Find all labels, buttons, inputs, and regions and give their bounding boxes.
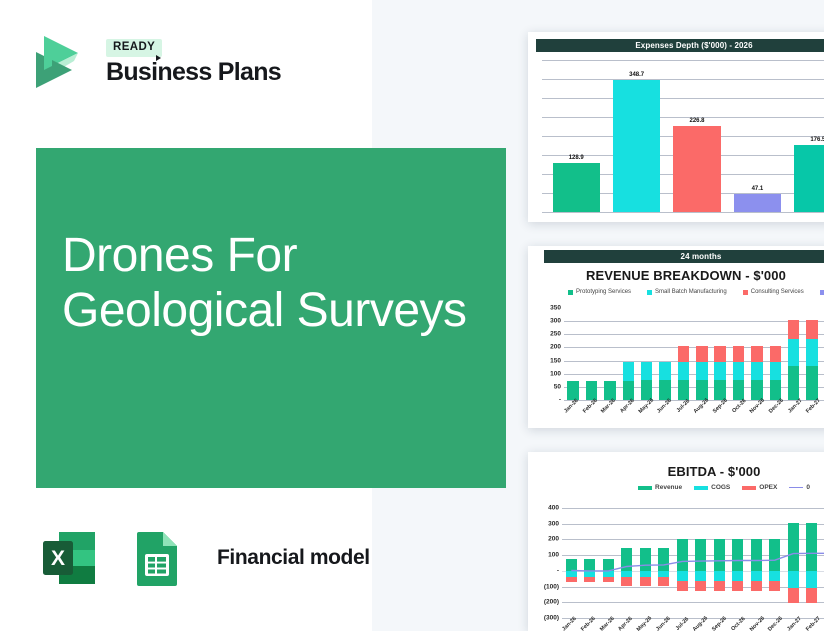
- bar-segment: [641, 362, 652, 380]
- bar-segment: [806, 339, 817, 366]
- bar-segment: [695, 539, 706, 571]
- legend-item: OPEX: [742, 484, 777, 491]
- bar-segment: [714, 539, 725, 571]
- bar-segment: [806, 588, 817, 602]
- bar-segment: [751, 571, 762, 581]
- bar-segment: [770, 362, 781, 380]
- bar: [553, 163, 600, 212]
- legend-swatch: [647, 290, 652, 295]
- bar-value-label: 226.8: [690, 118, 705, 124]
- bar-segment: [788, 523, 799, 571]
- bar-slot: [785, 308, 803, 400]
- page-title: Drones For Geological Surveys: [62, 228, 482, 338]
- chart-card-revenue[interactable]: 24 months REVENUE BREAKDOWN - $'000 Prot…: [528, 246, 824, 428]
- revenue-bar-group: [564, 308, 824, 400]
- bar-segment: [603, 577, 614, 582]
- expenses-bar-group: 128.9348.7226.847.1176.5: [542, 60, 824, 212]
- bar-slot: [766, 308, 784, 400]
- bar-slot: [693, 308, 711, 400]
- bar-slot: [582, 308, 600, 400]
- bar-segment: [640, 548, 651, 571]
- y-tick-label: 400: [548, 505, 559, 512]
- play-triangles-logo-icon: [28, 30, 92, 94]
- bar-segment: [696, 346, 707, 361]
- bar-segment: [714, 346, 725, 361]
- ebitda-plot-area: 400300200100-(100)(200)(300): [532, 508, 824, 618]
- bar-slot: [710, 508, 729, 618]
- brand-accent-triangle-icon: [156, 55, 161, 61]
- bar-segment: [584, 577, 595, 582]
- poster-page: READY Business Plans Drones For Geologic…: [0, 0, 824, 631]
- bar-slot: [784, 508, 803, 618]
- ebitda-legend: RevenueCOGSOPEX0: [590, 484, 824, 491]
- bar-slot: [729, 308, 747, 400]
- brand-logo-block[interactable]: READY Business Plans: [28, 30, 281, 94]
- stacked-bar: [696, 346, 707, 400]
- bar-slot: [711, 308, 729, 400]
- bar-segment: [658, 548, 669, 571]
- bar-slot: [581, 508, 600, 618]
- bar-segment: [677, 539, 688, 571]
- svg-text:X: X: [51, 547, 65, 570]
- bar-slot: [656, 308, 674, 400]
- bar-segment: [769, 539, 780, 571]
- stacked-bar: [751, 346, 762, 400]
- y-tick-label: (100): [544, 583, 559, 590]
- y-tick-label: 300: [550, 318, 561, 325]
- stacked-bar: [678, 346, 689, 400]
- y-tick-label: 200: [550, 344, 561, 351]
- y-tick-label: 50: [554, 383, 561, 390]
- file-format-row: X Financial model: [33, 522, 370, 594]
- bar-slot: [655, 508, 674, 618]
- bar-segment: [788, 571, 799, 589]
- microsoft-excel-icon: X: [33, 522, 105, 594]
- legend-label: OPEX: [759, 484, 777, 491]
- bar-slot: [619, 308, 637, 400]
- bar-segment: [806, 523, 817, 571]
- bar-segment: [751, 539, 762, 571]
- ebitda-x-axis-labels: Jan-26Feb-26Mar-26Apr-26May-26Jun-26Jul-…: [558, 622, 824, 628]
- brand-name-text: Business Plans: [106, 58, 281, 86]
- legend-swatch: [789, 487, 803, 488]
- legend-item: -: [820, 289, 824, 295]
- bar-slot: [674, 308, 692, 400]
- ebitda-chart-title: EBITDA - $'000: [570, 464, 824, 479]
- bar-segment: [732, 539, 743, 571]
- legend-item: 0: [789, 484, 810, 491]
- bar-segment: [566, 559, 577, 571]
- y-tick-label: 100: [548, 552, 559, 559]
- y-tick-label: -: [557, 567, 559, 574]
- bar-segment: [714, 362, 725, 380]
- bar-slot: [638, 308, 656, 400]
- bar-slot: [636, 508, 655, 618]
- y-axis-labels: 400300200100-(100)(200)(300): [532, 508, 562, 618]
- legend-label: COGS: [711, 484, 730, 491]
- bar-slot: [564, 308, 582, 400]
- bar-value-label: 348.7: [629, 72, 644, 78]
- bar: [794, 145, 824, 212]
- bar-segment: [678, 362, 689, 380]
- ebitda-bar-group: [562, 508, 824, 618]
- bar-segment: [769, 571, 780, 581]
- expenses-plot-area: 128.9348.7226.847.1176.5: [542, 60, 824, 212]
- y-tick-label: 250: [550, 331, 561, 338]
- bar: [734, 194, 781, 212]
- revenue-legend: Prototyping ServicesSmall Batch Manufact…: [568, 289, 824, 295]
- legend-item: Revenue: [638, 484, 682, 491]
- revenue-plot-area: 35030025020015010050-: [534, 308, 824, 400]
- legend-label: Prototyping Services: [576, 289, 631, 295]
- bar-segment: [733, 346, 744, 361]
- bar-segment: [770, 380, 781, 400]
- bar-segment: [677, 581, 688, 591]
- bar: [673, 126, 720, 212]
- bar-slot: [729, 508, 748, 618]
- bar-slot: [601, 308, 619, 400]
- legend-swatch: [638, 486, 652, 490]
- bar-segment: [566, 577, 577, 582]
- bar-segment: [769, 581, 780, 591]
- legend-swatch: [742, 486, 756, 490]
- bar-value-label: 128.9: [569, 155, 584, 161]
- bar-slot: 176.5: [788, 60, 824, 212]
- bar-segment: [623, 362, 634, 381]
- bar-segment: [584, 559, 595, 571]
- bar-segment: [621, 548, 632, 571]
- legend-label: Revenue: [655, 484, 682, 491]
- stacked-bar: [623, 362, 634, 400]
- bar-segment: [788, 588, 799, 602]
- bar-segment: [621, 577, 632, 586]
- bar-segment: [714, 571, 725, 581]
- bar-slot: [766, 508, 785, 618]
- y-axis-labels: 35030025020015010050-: [534, 308, 564, 400]
- stacked-bar: [770, 346, 781, 400]
- bar-segment: [659, 362, 670, 380]
- chart-card-ebitda[interactable]: EBITDA - $'000 RevenueCOGSOPEX0 40030020…: [528, 452, 824, 631]
- bar-segment: [732, 581, 743, 591]
- legend-label: 0: [806, 484, 810, 491]
- bar-segment: [603, 559, 614, 571]
- stacked-bar: [714, 346, 725, 400]
- bar-segment: [604, 381, 615, 400]
- y-tick-label: 200: [548, 536, 559, 543]
- bar-segment: [695, 581, 706, 591]
- legend-item: Consulting Services: [743, 289, 804, 295]
- bar-value-label: 47.1: [752, 186, 764, 192]
- bar-slot: [748, 308, 766, 400]
- bar-segment: [658, 577, 669, 586]
- y-tick-label: -: [559, 397, 561, 404]
- y-tick-label: (300): [544, 615, 559, 622]
- bar: [613, 80, 660, 213]
- bar-segment: [788, 366, 799, 400]
- stacked-bar: [733, 346, 744, 400]
- bar-segment: [806, 366, 817, 400]
- legend-swatch: [694, 486, 708, 490]
- revenue-chart-title: REVENUE BREAKDOWN - $'000: [586, 268, 824, 283]
- stacked-bar: [567, 381, 578, 400]
- legend-item: COGS: [694, 484, 730, 491]
- ready-badge: READY: [106, 39, 162, 57]
- bar-slot: [562, 508, 581, 618]
- bar-segment: [678, 346, 689, 361]
- bar-segment: [788, 320, 799, 339]
- bar-segment: [732, 571, 743, 581]
- bar-slot: 47.1: [727, 60, 787, 212]
- bar-slot: 348.7: [606, 60, 666, 212]
- bar-value-label: 176.5: [810, 137, 824, 143]
- legend-swatch: [568, 290, 573, 295]
- bar-segment: [751, 362, 762, 380]
- gridline: [542, 212, 824, 213]
- legend-swatch: [743, 290, 748, 295]
- stacked-bar: [641, 362, 652, 400]
- y-tick-label: 100: [550, 370, 561, 377]
- bar-slot: [747, 508, 766, 618]
- bar-segment: [714, 581, 725, 591]
- bar-segment: [788, 339, 799, 366]
- google-sheets-icon: [121, 522, 193, 594]
- brand-text-group: READY Business Plans: [106, 37, 281, 86]
- bar-slot: 226.8: [667, 60, 727, 212]
- y-tick-label: (200): [544, 599, 559, 606]
- legend-item: Small Batch Manufacturing: [647, 289, 727, 295]
- bar-slot: [599, 508, 618, 618]
- stacked-bar: [788, 320, 799, 400]
- bar-segment: [567, 381, 578, 400]
- bar-slot: [673, 508, 692, 618]
- bar-slot: [803, 508, 822, 618]
- chart-card-expenses[interactable]: Expenses Depth ($'000) - 2026 128.9348.7…: [528, 32, 824, 222]
- legend-swatch: [820, 290, 824, 295]
- bar-slot: [803, 308, 821, 400]
- y-tick-label: 150: [550, 357, 561, 364]
- revenue-header-bar: 24 months: [544, 250, 824, 263]
- legend-item: Prototyping Services: [568, 289, 631, 295]
- bar-segment: [751, 346, 762, 361]
- gridline: [562, 618, 824, 619]
- y-tick-label: 300: [548, 520, 559, 527]
- bar-segment: [695, 571, 706, 581]
- bar-segment: [640, 577, 651, 586]
- bar-segment: [733, 362, 744, 380]
- stacked-bar: [806, 320, 817, 400]
- stacked-bar: [604, 381, 615, 400]
- bar-segment: [806, 571, 817, 589]
- bar-segment: [677, 571, 688, 581]
- stacked-bar: [659, 362, 670, 400]
- financial-model-label: Financial model: [217, 546, 370, 570]
- bar-segment: [696, 362, 707, 380]
- legend-label: Small Batch Manufacturing: [655, 289, 727, 295]
- bar-slot: [618, 508, 637, 618]
- bar-segment: [806, 320, 817, 339]
- revenue-x-axis-labels: Jan-26Feb-26Mar-26Apr-26May-26Jun-26Jul-…: [560, 404, 824, 410]
- bar-slot: 128.9: [546, 60, 606, 212]
- bar-segment: [770, 346, 781, 361]
- legend-label: Consulting Services: [751, 289, 804, 295]
- expenses-header-bar: Expenses Depth ($'000) - 2026: [536, 39, 824, 52]
- bar-slot: [692, 508, 711, 618]
- y-tick-label: 350: [550, 305, 561, 312]
- brand-name: Business Plans: [106, 59, 281, 87]
- bar-segment: [751, 581, 762, 591]
